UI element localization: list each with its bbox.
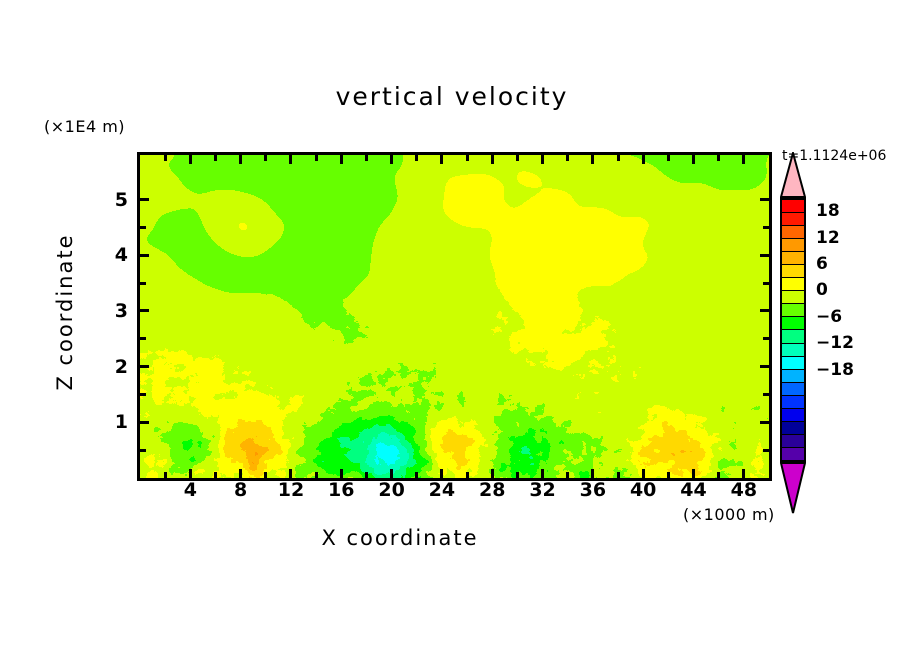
colorbar-band [782,435,804,448]
colorbar-bands [780,198,806,462]
x-tick-mark [340,469,343,478]
x-tick-mark [642,469,645,478]
x-tick-label: 12 [278,479,304,501]
x-tick-mark [591,469,594,478]
colorbar-band [782,213,804,226]
x-tick-mark [692,469,695,478]
colorbar-tick-label: 18 [816,201,840,221]
y-tick-mark [763,449,769,452]
x-tick-mark [717,155,720,161]
colorbar-band [782,370,804,383]
y-tick-mark [140,309,149,312]
y-tick-label: 4 [98,244,128,266]
x-tick-mark [415,155,418,161]
x-tick-mark [239,155,242,164]
x-tick-mark [415,472,418,478]
y-tick-mark [140,449,146,452]
y-tick-mark [760,421,769,424]
x-tick-mark [466,155,469,161]
y-tick-mark [763,393,769,396]
y-tick-label: 3 [98,300,128,322]
colorbar-band [782,278,804,291]
x-tick-mark [692,155,695,164]
colorbar[interactable]: 181260−6−12−18 [780,198,806,462]
x-tick-label: 16 [328,479,354,501]
y-tick-mark [140,254,149,257]
x-tick-label: 28 [479,479,505,501]
x-tick-mark [566,155,569,161]
colorbar-band [782,357,804,370]
y-tick-mark [763,337,769,340]
colorbar-band [782,422,804,435]
colorbar-tick-label: 0 [816,280,828,300]
x-tick-mark [667,472,670,478]
colorbar-band [782,409,804,422]
x-tick-mark [315,472,318,478]
x-tick-mark [189,469,192,478]
x-tick-mark [516,155,519,161]
colorbar-tick-label: 6 [816,254,828,274]
y-tick-mark [760,198,769,201]
x-axis-title: X coordinate [0,526,800,550]
y-tick-mark [763,226,769,229]
y-tick-mark [140,393,146,396]
colorbar-tick-label: −6 [816,307,842,327]
page-title: vertical velocity [0,82,904,111]
x-tick-mark [239,469,242,478]
x-tick-mark [214,155,217,161]
x-tick-label: 48 [731,479,757,501]
colorbar-band [782,291,804,304]
y-tick-mark [140,198,149,201]
x-tick-label: 4 [184,479,197,501]
x-tick-mark [541,155,544,164]
x-tick-mark [742,155,745,164]
colorbar-band [782,344,804,357]
colorbar-band [782,252,804,265]
x-tick-mark [466,472,469,478]
x-tick-mark [742,469,745,478]
x-tick-mark [566,472,569,478]
colorbar-band [782,239,804,252]
x-tick-label: 44 [680,479,706,501]
x-tick-mark [591,155,594,164]
x-tick-mark [617,472,620,478]
x-tick-mark [491,469,494,478]
x-axis-unit-label: (×1000 m) [683,505,775,524]
x-tick-mark [516,472,519,478]
colorbar-band [782,396,804,409]
colorbar-under-arrow [780,462,806,514]
x-tick-mark [315,155,318,161]
x-tick-mark [440,469,443,478]
x-tick-mark [617,155,620,161]
y-tick-mark [140,226,146,229]
colorbar-band [782,304,804,317]
x-tick-label: 20 [378,479,404,501]
y-tick-label: 5 [98,189,128,211]
x-tick-mark [390,155,393,164]
y-tick-mark [140,421,149,424]
colorbar-tick-label: −12 [816,333,854,353]
x-tick-mark [289,155,292,164]
colorbar-tick-label: −18 [816,360,854,380]
x-tick-mark [189,155,192,164]
plot-area[interactable] [137,152,772,481]
x-tick-label: 24 [429,479,455,501]
y-tick-label: 2 [98,356,128,378]
colorbar-band [782,383,804,396]
x-tick-mark [717,472,720,478]
y-axis-unit-label: (×1E4 m) [44,117,125,136]
figure-canvas: vertical velocity (×1E4 m) t=1.1124e+06 … [0,0,904,654]
y-tick-mark [140,282,146,285]
x-tick-label: 8 [234,479,247,501]
y-tick-mark [760,365,769,368]
x-tick-mark [491,155,494,164]
x-tick-label: 36 [580,479,606,501]
colorbar-band [782,317,804,330]
colorbar-band [782,265,804,278]
colorbar-over-arrow [780,152,806,198]
x-tick-mark [289,469,292,478]
y-axis-title: Z coordinate [53,222,77,402]
x-tick-mark [340,155,343,164]
x-tick-mark [365,472,368,478]
y-tick-label: 1 [98,411,128,433]
x-tick-mark [264,155,267,161]
colorbar-band [782,330,804,343]
contour-field [140,155,769,478]
x-tick-mark [390,469,393,478]
y-tick-mark [140,337,146,340]
y-tick-mark [140,365,149,368]
colorbar-tick-label: 12 [816,228,840,248]
x-tick-label: 32 [529,479,555,501]
x-tick-mark [214,472,217,478]
colorbar-band [782,200,804,213]
x-tick-mark [642,155,645,164]
y-tick-mark [763,282,769,285]
x-tick-mark [667,155,670,161]
colorbar-band [782,448,804,460]
x-tick-mark [164,472,167,478]
y-tick-mark [760,254,769,257]
x-tick-mark [440,155,443,164]
x-tick-mark [264,472,267,478]
colorbar-band [782,226,804,239]
x-tick-mark [541,469,544,478]
x-tick-label: 40 [630,479,656,501]
x-tick-mark [164,155,167,161]
y-tick-mark [760,309,769,312]
x-tick-mark [365,155,368,161]
